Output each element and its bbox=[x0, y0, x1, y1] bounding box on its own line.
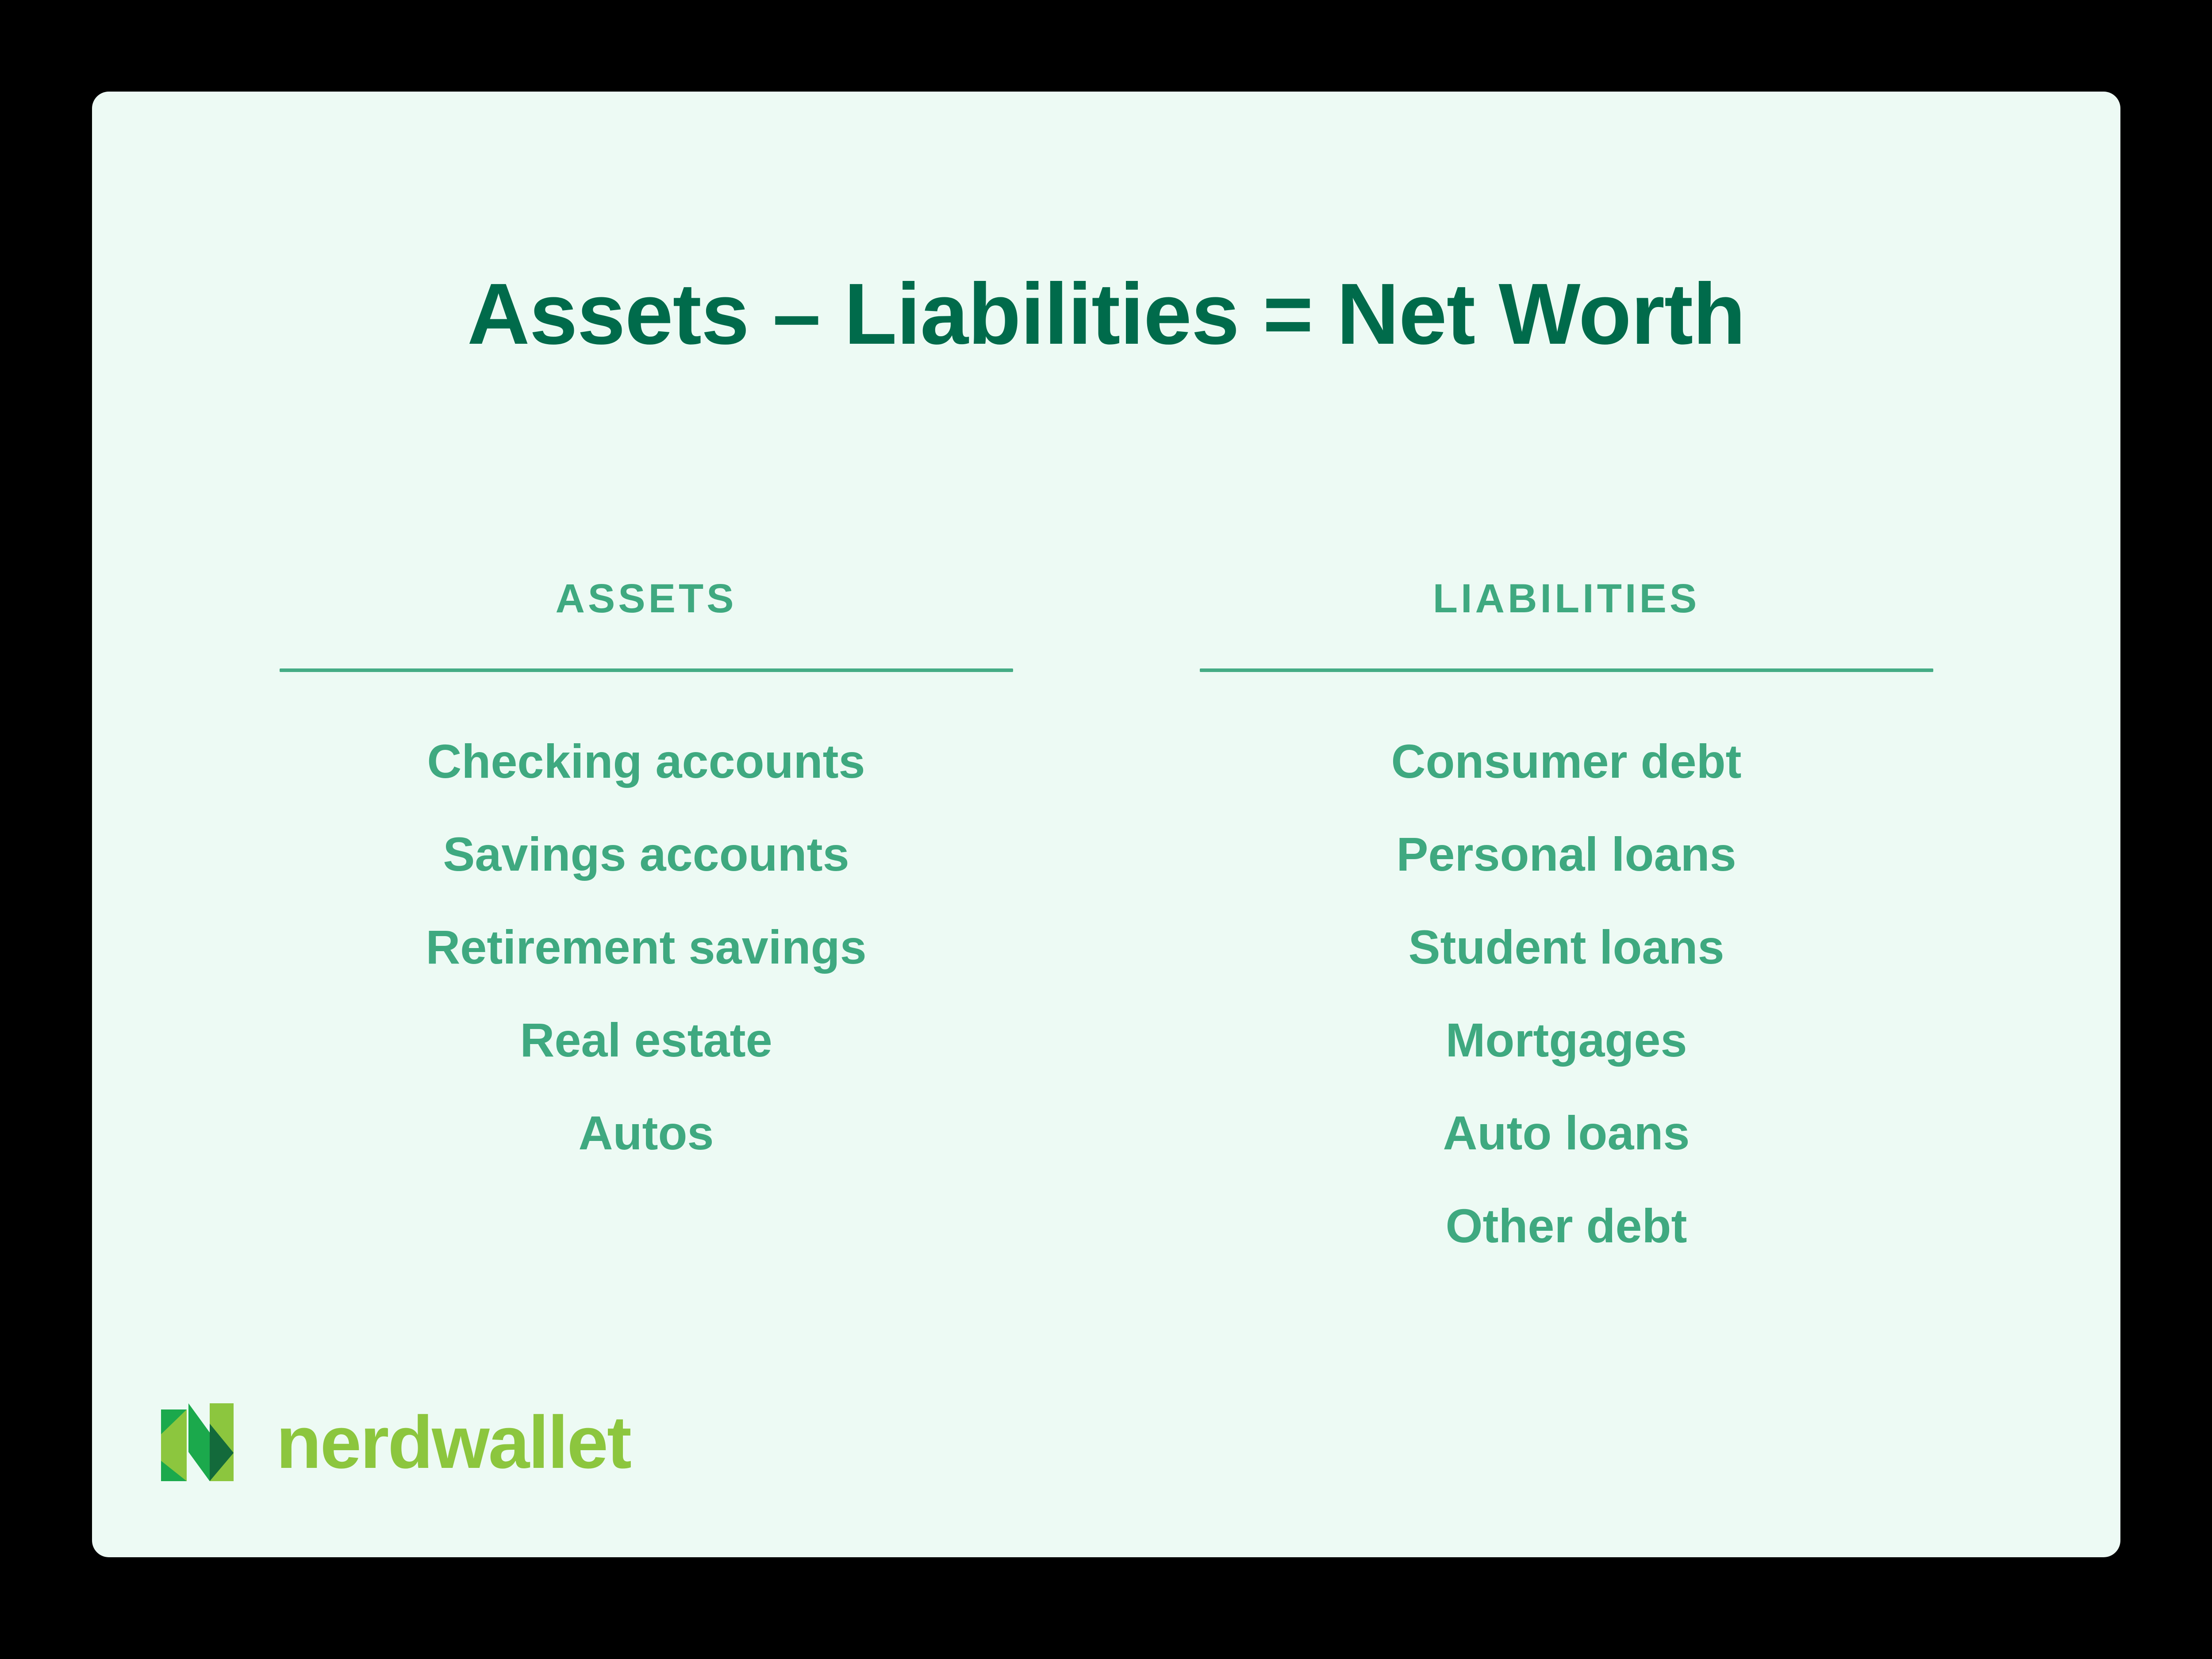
list-item: Consumer debt bbox=[1391, 737, 1741, 785]
infographic-card: Assets – Liabilities = Net Worth ASSETS … bbox=[92, 92, 2120, 1557]
nerdwallet-wordmark: nerdwallet bbox=[276, 1405, 630, 1479]
nerdwallet-logo: nerdwallet bbox=[157, 1403, 630, 1481]
list-item: Real estate bbox=[520, 1016, 772, 1064]
liabilities-divider-rule bbox=[1200, 668, 1933, 672]
assets-column: ASSETS Checking accounts Savings account… bbox=[186, 578, 1106, 1157]
list-item: Savings accounts bbox=[443, 830, 849, 878]
list-item: Mortgages bbox=[1445, 1016, 1687, 1064]
list-item: Student loans bbox=[1408, 923, 1724, 971]
nerdwallet-logo-icon bbox=[157, 1403, 246, 1481]
page-title: Assets – Liabilities = Net Worth bbox=[92, 269, 2120, 360]
liabilities-column: LIABILITIES Consumer debt Personal loans… bbox=[1106, 578, 2027, 1250]
screenshot-canvas: Assets – Liabilities = Net Worth ASSETS … bbox=[0, 0, 2212, 1659]
list-item: Auto loans bbox=[1443, 1109, 1690, 1157]
comparison-columns: ASSETS Checking accounts Savings account… bbox=[92, 578, 2120, 1250]
list-item: Autos bbox=[579, 1109, 714, 1157]
liabilities-column-header: LIABILITIES bbox=[1433, 578, 1700, 619]
assets-divider-rule bbox=[280, 668, 1013, 672]
assets-list: Checking accounts Savings accounts Retir… bbox=[186, 737, 1106, 1157]
list-item: Personal loans bbox=[1396, 830, 1736, 878]
list-item: Checking accounts bbox=[427, 737, 865, 785]
list-item: Retirement savings bbox=[426, 923, 866, 971]
list-item: Other debt bbox=[1445, 1202, 1687, 1250]
assets-column-header: ASSETS bbox=[555, 578, 737, 619]
liabilities-list: Consumer debt Personal loans Student loa… bbox=[1106, 737, 2027, 1250]
